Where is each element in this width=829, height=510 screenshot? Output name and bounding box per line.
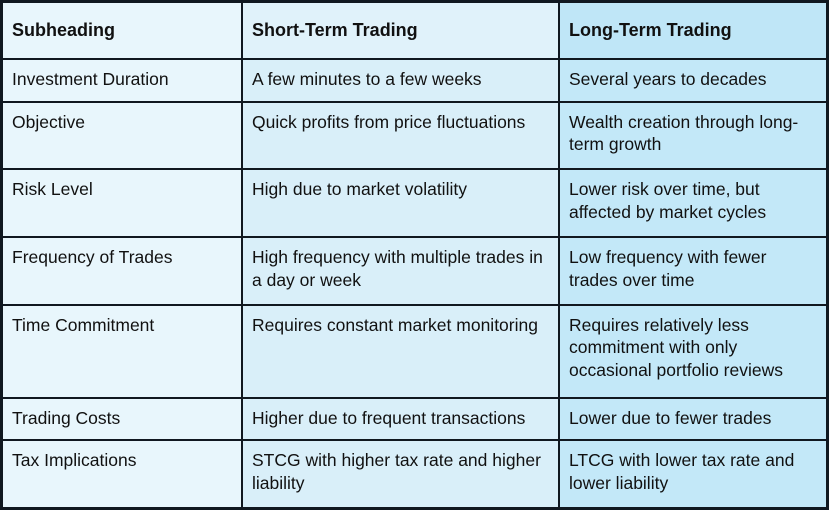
cell-short-term: Requires constant market monitoring [242, 305, 559, 398]
cell-subheading: Investment Duration [3, 59, 242, 102]
cell-subheading: Frequency of Trades [3, 237, 242, 305]
cell-short-term: STCG with higher tax rate and higher lia… [242, 440, 559, 507]
cell-subheading: Tax Implications [3, 440, 242, 507]
cell-long-term: Lower due to fewer trades [559, 398, 826, 441]
table-row: Frequency of Trades High frequency with … [3, 237, 826, 305]
table-header: Subheading Short-Term Trading Long-Term … [3, 3, 826, 59]
cell-subheading: Risk Level [3, 169, 242, 237]
cell-long-term: Several years to decades [559, 59, 826, 102]
cell-short-term: High due to market volatility [242, 169, 559, 237]
cell-long-term: Low frequency with fewer trades over tim… [559, 237, 826, 305]
cell-subheading: Trading Costs [3, 398, 242, 441]
comparison-table-container: www.truedata.in Subheading Short-Term Tr… [0, 0, 829, 510]
column-header-long-term: Long-Term Trading [559, 3, 826, 59]
cell-short-term: A few minutes to a few weeks [242, 59, 559, 102]
cell-long-term: Requires relatively less commitment with… [559, 305, 826, 398]
table-row: Time Commitment Requires constant market… [3, 305, 826, 398]
cell-short-term: Higher due to frequent transactions [242, 398, 559, 441]
cell-short-term: High frequency with multiple trades in a… [242, 237, 559, 305]
header-row: Subheading Short-Term Trading Long-Term … [3, 3, 826, 59]
table-row: Objective Quick profits from price fluct… [3, 102, 826, 170]
table-row: Investment Duration A few minutes to a f… [3, 59, 826, 102]
cell-short-term: Quick profits from price fluctuations [242, 102, 559, 170]
cell-subheading: Objective [3, 102, 242, 170]
cell-subheading: Time Commitment [3, 305, 242, 398]
table-row: Tax Implications STCG with higher tax ra… [3, 440, 826, 507]
cell-long-term: Lower risk over time, but affected by ma… [559, 169, 826, 237]
column-header-short-term: Short-Term Trading [242, 3, 559, 59]
table-row: Risk Level High due to market volatility… [3, 169, 826, 237]
table-body: Investment Duration A few minutes to a f… [3, 59, 826, 507]
table-row: Trading Costs Higher due to frequent tra… [3, 398, 826, 441]
comparison-table: Subheading Short-Term Trading Long-Term … [3, 3, 826, 507]
column-header-subheading: Subheading [3, 3, 242, 59]
cell-long-term: Wealth creation through long-term growth [559, 102, 826, 170]
cell-long-term: LTCG with lower tax rate and lower liabi… [559, 440, 826, 507]
